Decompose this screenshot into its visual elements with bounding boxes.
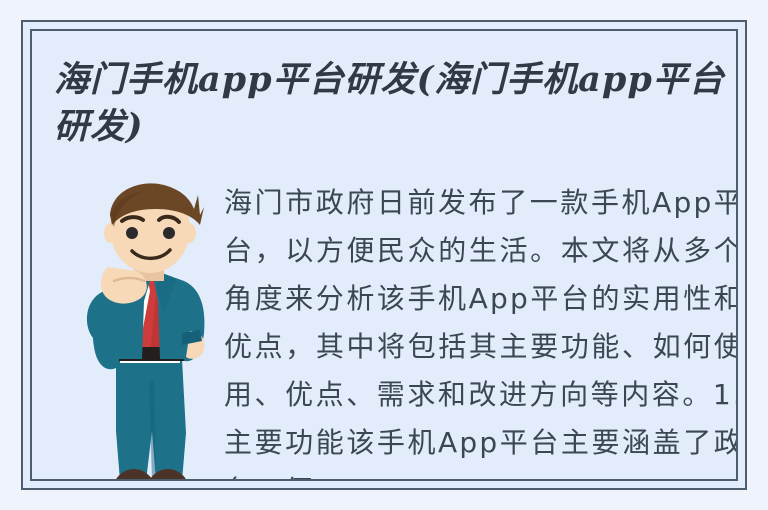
- thinking-businessman-illustration: [64, 181, 234, 479]
- article-card-outer-frame: 海门手机app平台研发(海门手机app平台研发): [21, 20, 747, 490]
- left-shoe: [112, 469, 156, 479]
- right-eye: [163, 227, 175, 239]
- left-ear: [104, 223, 118, 243]
- left-eye: [126, 227, 138, 239]
- article-card-inner-frame: 海门手机app平台研发(海门手机app平台研发): [30, 29, 738, 481]
- article-body-text: 海门市政府日前发布了一款手机App平台，以方便民众的生活。本文将从多个角度来分析…: [224, 179, 736, 479]
- businessman-svg: [64, 181, 234, 479]
- right-ear: [182, 223, 196, 243]
- article-card-content: 海门手机app平台研发(海门手机app平台研发): [32, 31, 736, 479]
- page-title: 海门手机app平台研发(海门手机app平台研发): [54, 56, 736, 150]
